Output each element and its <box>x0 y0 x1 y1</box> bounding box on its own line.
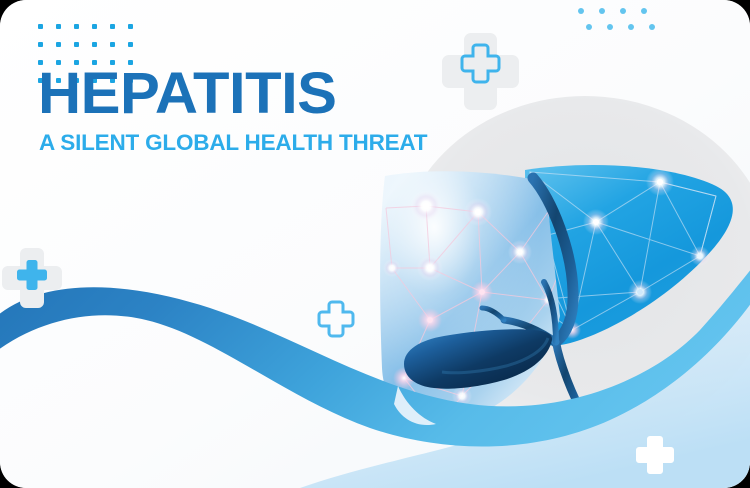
cross-top-center-icon <box>442 33 519 110</box>
cross-left-middle-icon <box>2 248 62 308</box>
hepatitis-banner-card: HEPATITIS A SILENT GLOBAL HEALTH THREAT <box>0 0 750 488</box>
page-subtitle: A SILENT GLOBAL HEALTH THREAT <box>39 130 427 156</box>
page-title: HEPATITIS <box>38 66 439 122</box>
cross-bottom-right-icon <box>636 436 674 474</box>
cross-center-lower-icon <box>319 302 353 336</box>
title-block: HEPATITIS A SILENT GLOBAL HEALTH THREAT <box>38 66 427 156</box>
